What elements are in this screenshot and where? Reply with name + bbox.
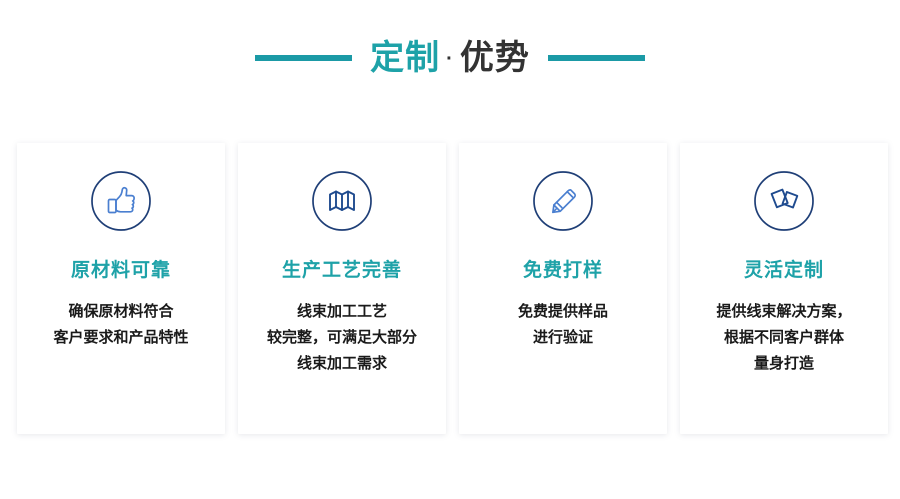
feature-card-body-line: 确保原材料符合 (53, 299, 188, 325)
feature-card-body-line: 较完整，可满足大部分 (267, 325, 417, 351)
title-main-text: 定制 (370, 41, 440, 75)
feature-card-list: 原材料可靠 确保原材料符合 客户要求和产品特性 生产工艺完善 (17, 143, 888, 434)
page-title: 定制 · 优势 (370, 41, 530, 75)
feature-card-body: 确保原材料符合 客户要求和产品特性 (47, 299, 194, 352)
feature-card-body-line: 根据不同客户群体 (716, 325, 851, 351)
feature-card-body: 提供线束解决方案， 根据不同客户群体 量身打造 (710, 299, 857, 378)
feature-card-title: 免费打样 (523, 260, 603, 283)
thumbs-up-icon (90, 170, 152, 232)
feature-card-flexible-customization[interactable]: 灵活定制 提供线束解决方案， 根据不同客户群体 量身打造 (680, 143, 888, 434)
feature-card-title: 生产工艺完善 (282, 260, 402, 283)
feature-card-body-line: 量身打造 (716, 351, 851, 377)
customization-advantages-section: 定制 · 优势 原材料可靠 确保原材料符合 客户要求和产品特性 (0, 0, 900, 499)
feature-card-body-line: 线束加工需求 (267, 351, 417, 377)
section-title: 定制 · 优势 (0, 28, 900, 88)
feature-card-title: 灵活定制 (744, 260, 824, 283)
feature-card-body-line: 进行验证 (518, 325, 608, 351)
title-sub-text: 优势 (460, 41, 530, 75)
folded-map-icon (311, 170, 373, 232)
title-rule-left (255, 55, 352, 61)
stacked-cards-icon (753, 170, 815, 232)
feature-card-body: 线束加工工艺 较完整，可满足大部分 线束加工需求 (261, 299, 423, 378)
feature-card-free-sample[interactable]: 免费打样 免费提供样品 进行验证 (459, 143, 667, 434)
title-separator-dot: · (440, 49, 460, 69)
feature-card-body-line: 客户要求和产品特性 (53, 325, 188, 351)
feature-card-body-line: 提供线束解决方案， (716, 299, 851, 325)
feature-card-body-line: 线束加工工艺 (267, 299, 417, 325)
feature-card-production-process[interactable]: 生产工艺完善 线束加工工艺 较完整，可满足大部分 线束加工需求 (238, 143, 446, 434)
feature-card-body-line: 免费提供样品 (518, 299, 608, 325)
title-rule-right (548, 55, 645, 61)
pencil-icon (532, 170, 594, 232)
feature-card-raw-material[interactable]: 原材料可靠 确保原材料符合 客户要求和产品特性 (17, 143, 225, 434)
feature-card-body: 免费提供样品 进行验证 (512, 299, 614, 352)
feature-card-title: 原材料可靠 (71, 260, 171, 283)
